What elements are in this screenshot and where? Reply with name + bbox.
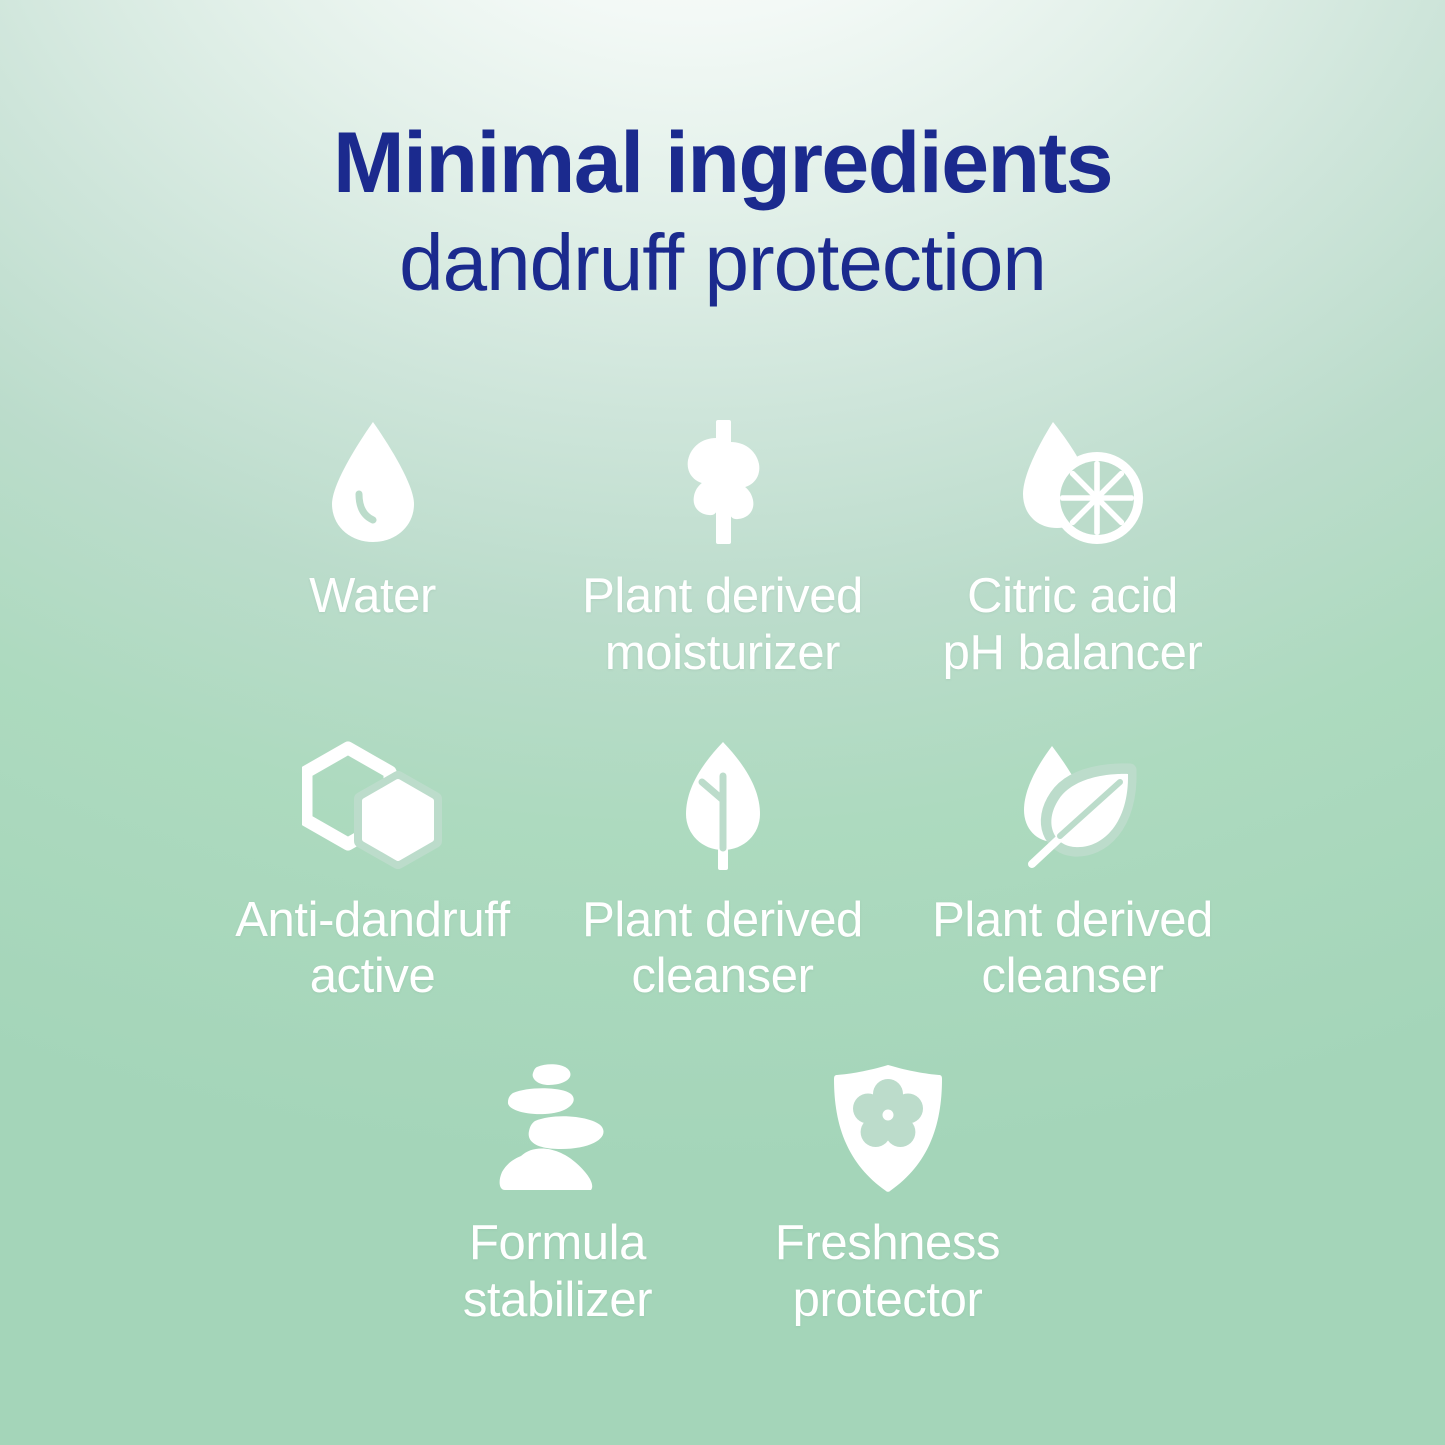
stacked-stones-icon	[483, 1063, 633, 1195]
ingredient-item-plant-derived-cleanser-1: Plant derived cleanser	[548, 740, 898, 1006]
headline-line-2: dandruff protection	[0, 221, 1445, 306]
ingredient-row-3: Formula stabilizer	[0, 1063, 1445, 1329]
citrus-slice-drop-icon	[1003, 416, 1143, 548]
plant-stem-leaves-icon	[663, 416, 783, 548]
ingredient-item-plant-derived-moisturizer: Plant derived moisturizer	[548, 416, 898, 682]
shield-flower-icon	[828, 1063, 948, 1195]
ingredient-item-formula-stabilizer: Formula stabilizer	[393, 1063, 723, 1329]
ingredient-label: Anti-dandruff active	[235, 892, 509, 1006]
ingredient-label: Freshness protector	[775, 1215, 1000, 1329]
ingredient-row-2: Anti-dandruff active	[0, 740, 1445, 1006]
ingredients-infographic: Minimal ingredients dandruff protection …	[0, 0, 1445, 1445]
water-drop-icon	[318, 416, 428, 548]
ingredient-row-1: Water	[0, 416, 1445, 682]
ingredient-item-plant-derived-cleanser-2: Plant derived cleanser	[898, 740, 1248, 1006]
ingredient-item-anti-dandruff-active: Anti-dandruff active	[198, 740, 548, 1006]
ingredient-label: Plant derived moisturizer	[582, 568, 863, 682]
single-leaf-icon	[668, 740, 778, 872]
ingredient-label: Formula stabilizer	[463, 1215, 652, 1329]
hexagon-molecule-icon	[302, 740, 444, 872]
ingredient-grid: Water	[0, 416, 1445, 1329]
two-leaves-icon	[1002, 740, 1144, 872]
ingredient-item-citric-acid: Citric acid pH balancer	[898, 416, 1248, 682]
ingredient-item-freshness-protector: Freshness protector	[723, 1063, 1053, 1329]
ingredient-label: Plant derived cleanser	[582, 892, 863, 1006]
ingredient-label: Plant derived cleanser	[932, 892, 1213, 1006]
ingredient-item-water: Water	[198, 416, 548, 625]
headline-line-1: Minimal ingredients	[0, 118, 1445, 209]
ingredient-label: Water	[309, 568, 436, 625]
ingredient-label: Citric acid pH balancer	[943, 568, 1203, 682]
page-title: Minimal ingredients dandruff protection	[0, 118, 1445, 306]
